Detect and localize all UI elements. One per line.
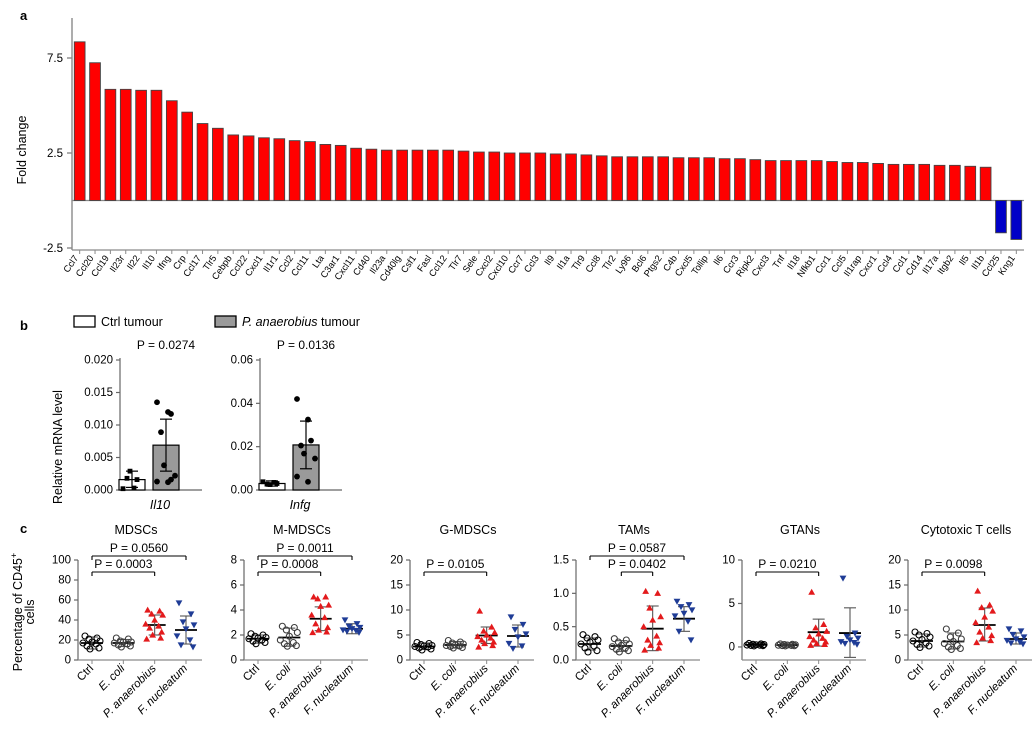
panel-c-group <box>640 588 664 664</box>
data-point <box>653 633 660 639</box>
data-point <box>806 633 813 639</box>
data-point <box>158 629 165 635</box>
data-point <box>1008 640 1015 646</box>
data-point <box>121 486 126 491</box>
svg-text:cells: cells <box>23 599 37 624</box>
panel-c-group <box>806 589 830 664</box>
panel-b-ytick: 0.02 <box>231 441 253 453</box>
panel-a-gene-label: Ccr1 <box>813 253 832 275</box>
data-point <box>580 632 586 638</box>
bar <box>658 157 669 201</box>
bar <box>704 158 715 201</box>
panel-c-pvalue: P = 0.0560 <box>110 541 168 555</box>
bar <box>520 153 531 201</box>
panel-b-gene-label: Infg <box>290 498 311 512</box>
panel-c-ytick: 5 <box>729 598 735 610</box>
data-point <box>988 632 995 638</box>
data-point <box>688 637 695 643</box>
bar <box>1011 201 1022 240</box>
bar <box>151 90 162 200</box>
panel-c-ytick: 0.0 <box>553 655 569 667</box>
data-point <box>301 451 307 457</box>
data-point <box>325 602 332 608</box>
data-point <box>125 476 130 481</box>
bar <box>934 165 945 200</box>
bar <box>504 153 515 201</box>
panel-b-ytick: 0.020 <box>84 355 113 367</box>
panel-c-ytick: 0 <box>729 642 735 654</box>
panel-c-chart: Percentage of CD45+cellsMDSCs02040608010… <box>0 516 1034 746</box>
bar <box>289 141 300 201</box>
significance-bracket: P = 0.0098 <box>922 557 985 576</box>
data-point <box>82 633 88 639</box>
data-point <box>685 619 692 625</box>
panel-c-group <box>142 607 166 664</box>
data-point <box>973 639 980 645</box>
panel-b-ytick: 0.005 <box>84 452 113 464</box>
data-point <box>654 590 661 596</box>
panel-a-gene-label: Ccr7 <box>506 253 525 275</box>
bar <box>166 101 177 201</box>
bar <box>950 165 961 200</box>
panel-c-group <box>941 626 964 664</box>
panel-c-ytick: 2 <box>231 630 237 642</box>
bar <box>980 167 991 200</box>
data-point <box>611 636 617 642</box>
data-point <box>191 622 198 628</box>
data-point <box>640 623 647 629</box>
data-point <box>174 633 181 639</box>
panel-c-pvalue: P = 0.0105 <box>426 557 484 571</box>
panel-c-pvalue: P = 0.0402 <box>608 557 666 571</box>
data-point <box>309 629 316 635</box>
bar <box>888 164 899 200</box>
panel-c-ytick: 80 <box>58 575 71 587</box>
panel-c-ytick: 0 <box>65 655 71 667</box>
significance-bracket: P = 0.0003 <box>92 557 155 576</box>
bar <box>673 158 684 201</box>
panel-c-ytick: 15 <box>390 580 403 592</box>
panel-a-gene-label: Ifng <box>155 253 172 271</box>
data-point <box>180 619 187 625</box>
data-point <box>594 648 600 654</box>
panel-c-group-label: Ctrl <box>407 663 428 684</box>
bar <box>827 162 838 201</box>
data-point <box>912 629 918 635</box>
data-point <box>144 607 151 613</box>
data-point <box>294 630 300 636</box>
data-point <box>812 624 819 630</box>
panel-c-plot-title: G-MDSCs <box>440 523 497 537</box>
data-point <box>158 429 164 435</box>
bar <box>381 150 392 200</box>
data-point <box>674 599 681 605</box>
bar <box>74 42 85 201</box>
data-point <box>986 602 993 608</box>
data-point <box>275 481 280 486</box>
panel-c-group <box>910 629 933 664</box>
bar <box>182 112 193 200</box>
panel-b-ytick: 0.04 <box>231 398 254 410</box>
panel-c-plot-title: GTANs <box>780 523 820 537</box>
panel-a-gene-label: Il10 <box>140 253 157 271</box>
panel-c-pvalue: P = 0.0008 <box>260 557 318 571</box>
bar <box>596 156 607 201</box>
bar <box>243 136 254 201</box>
panel-c-plot-title: MDSCs <box>114 523 157 537</box>
panel-c-group <box>308 593 332 664</box>
bar <box>335 145 346 200</box>
panel-c-group <box>277 623 300 664</box>
panel-a-gene-label: Cd14 <box>904 253 925 277</box>
data-point <box>190 644 197 650</box>
data-point <box>154 399 160 405</box>
panel-a-gene-label: Il1a <box>555 253 572 272</box>
panel-a-ylabel: Fold change <box>15 116 29 185</box>
bar <box>873 163 884 200</box>
data-point <box>294 396 300 402</box>
data-point <box>154 479 160 485</box>
bar <box>305 142 316 201</box>
bar <box>996 201 1007 233</box>
bar <box>811 161 822 201</box>
bar <box>259 138 270 201</box>
bar <box>397 150 408 200</box>
bar <box>535 153 546 201</box>
panel-a-chart: 7.52.5-2.5Fold changeCcl7Ccl20Ccl19Il23r… <box>0 0 1034 310</box>
data-point <box>176 600 183 606</box>
panel-c-ytick: 10 <box>722 555 735 567</box>
data-point <box>312 456 318 462</box>
panel-c-group <box>972 588 996 664</box>
data-point <box>657 613 664 619</box>
panel-c-ytick: 60 <box>58 595 71 607</box>
panel-a-gene-label: Il1r1 <box>261 253 280 274</box>
data-point <box>151 617 158 623</box>
panel-c-ytick: 20 <box>58 635 71 647</box>
panel-a-gene-label: Il22 <box>125 253 142 271</box>
panel-c-ytick: 0 <box>231 655 237 667</box>
panel-c-group-label: Ctrl <box>75 663 96 684</box>
panel-a-gene-label: Ccl8 <box>584 253 603 274</box>
panel-c-ytick: 100 <box>52 555 71 567</box>
panel-a-gene-label: Itgb2 <box>935 253 955 276</box>
bar <box>366 149 377 200</box>
data-point <box>142 621 149 627</box>
panel-c-pvalue: P = 0.0587 <box>608 541 666 555</box>
data-point <box>268 482 273 487</box>
bar <box>842 163 853 201</box>
data-point <box>656 639 663 645</box>
panel-c-ytick: 20 <box>888 555 901 567</box>
panel-c-ytick: 5 <box>397 630 403 642</box>
data-point <box>168 411 174 417</box>
panel-b-ytick: 0.06 <box>231 355 253 367</box>
panel-c-ytick: 10 <box>888 605 901 617</box>
panel-b-pvalue: P = 0.0274 <box>137 338 195 352</box>
panel-a-gene-label: Tnf <box>771 253 787 270</box>
panel-c-ytick: 10 <box>390 605 403 617</box>
bar <box>105 89 116 200</box>
bar <box>412 150 423 200</box>
panel-c-group-label: Ctrl <box>241 663 262 684</box>
panel-c-ytick: 40 <box>58 615 71 627</box>
panel-c-ytick: 0 <box>397 655 403 667</box>
data-point <box>515 634 522 640</box>
data-point <box>135 477 140 482</box>
bar <box>750 160 761 201</box>
panel-c-group-label: Ctrl <box>905 663 926 684</box>
bar <box>796 161 807 201</box>
data-point <box>974 588 981 594</box>
data-point <box>132 486 137 491</box>
panel-a-gene-label: Cd40 <box>351 253 372 277</box>
panel-a-ytick: 2.5 <box>47 148 63 160</box>
data-point <box>641 647 648 653</box>
significance-bracket: P = 0.0008 <box>258 557 321 576</box>
bar <box>719 159 730 201</box>
data-point <box>305 479 311 485</box>
data-point <box>972 619 979 625</box>
panel-c-plot-title: Cytotoxic T cells <box>921 523 1012 537</box>
panel-c-group <box>474 608 498 664</box>
data-point <box>823 628 830 634</box>
panel-c-group <box>80 633 103 664</box>
data-point <box>642 588 649 594</box>
bar <box>735 159 746 201</box>
panel-c-ytick: 4 <box>231 605 238 617</box>
panel-b-chart: Ctrl tumourP. anaerobius tumourRelative … <box>0 312 430 522</box>
data-point <box>976 629 983 635</box>
panel-a-gene-label: Ccl4 <box>875 253 894 274</box>
panel-c-group <box>672 599 696 664</box>
data-point <box>649 617 656 623</box>
panel-c-group <box>578 632 601 664</box>
bar <box>627 157 638 201</box>
bar <box>90 63 101 201</box>
data-point <box>840 576 847 582</box>
panel-b-pvalue: P = 0.0136 <box>277 338 335 352</box>
bar <box>120 89 131 200</box>
bar <box>581 155 592 201</box>
data-point <box>321 614 328 620</box>
data-point <box>161 462 167 468</box>
bar <box>427 150 438 200</box>
data-point <box>308 612 315 618</box>
bar <box>919 164 930 200</box>
data-point <box>820 621 827 627</box>
data-point <box>342 617 349 623</box>
data-point <box>681 611 688 617</box>
panel-a-gene-label: Ly96 <box>614 253 634 275</box>
data-point <box>644 637 651 643</box>
data-point <box>655 645 662 651</box>
bar <box>642 157 653 201</box>
data-point <box>491 629 498 635</box>
significance-bracket: P = 0.0210 <box>756 557 819 576</box>
panel-b-ytick: 0.015 <box>84 387 113 399</box>
data-point <box>298 443 304 449</box>
panel-b-bar-group <box>259 479 285 490</box>
data-point <box>317 603 324 609</box>
bar <box>688 158 699 201</box>
panel-b-ylabel: Relative mRNA level <box>51 390 65 504</box>
panel-c-group-label: Ctrl <box>739 663 760 684</box>
panel-c-group <box>340 617 364 664</box>
data-point <box>1006 626 1013 632</box>
data-point <box>324 624 331 630</box>
panel-c-ytick: 5 <box>895 630 901 642</box>
panel-c-group <box>1004 626 1028 664</box>
panel-c-group <box>506 614 530 664</box>
panel-c-ytick: 8 <box>231 555 237 567</box>
panel-c-group <box>838 576 862 664</box>
data-point <box>510 646 517 652</box>
panel-c-ytick: 1.5 <box>553 555 569 567</box>
bar <box>351 148 362 200</box>
data-point <box>476 608 483 614</box>
panel-a-ytick: -2.5 <box>43 243 63 255</box>
panel-b-gene-label: Il10 <box>150 498 170 512</box>
data-point <box>981 614 988 620</box>
panel-c-pvalue: P = 0.0210 <box>758 557 816 571</box>
data-point <box>294 474 300 480</box>
panel-a-gene-label: Ccl11 <box>289 253 310 278</box>
bar <box>320 144 331 200</box>
panel-a-gene-label: Csf1 <box>399 253 418 274</box>
data-point <box>519 643 526 649</box>
data-point <box>808 589 815 595</box>
panel-c-ytick: 0 <box>895 655 901 667</box>
panel-b-bar-group <box>119 469 145 491</box>
panel-a-gene-label: Il23r <box>108 253 127 274</box>
panel-a-gene-label: Kng1 <box>996 253 1017 277</box>
panel-c-plot-title: TAMs <box>618 523 650 537</box>
data-point <box>128 469 133 474</box>
panel-c-ytick: 0.5 <box>553 621 569 633</box>
bar <box>612 157 623 201</box>
data-point <box>96 645 102 651</box>
bar <box>212 128 223 200</box>
data-point <box>187 637 194 643</box>
panel-c-pvalue: P = 0.0011 <box>276 541 334 555</box>
panel-a-ytick: 7.5 <box>47 53 63 65</box>
bar <box>965 166 976 200</box>
panel-b-legend: Ctrl tumourP. anaerobius tumour <box>74 315 360 329</box>
legend-pa-label: P. anaerobius tumour <box>242 315 360 329</box>
bar <box>903 164 914 200</box>
bar <box>765 161 776 201</box>
panel-c-pvalue: P = 0.0098 <box>924 557 982 571</box>
data-point <box>508 614 515 620</box>
data-point <box>143 636 150 642</box>
panel-c-plot-title: M-MDSCs <box>273 523 331 537</box>
bar <box>566 154 577 201</box>
significance-bracket: P = 0.0105 <box>424 557 487 576</box>
panel-b-bar-group <box>293 396 319 490</box>
bar <box>136 90 147 200</box>
panel-c-ylabel: Percentage of CD45+cells <box>9 553 37 672</box>
bar <box>489 152 500 200</box>
significance-bracket: P = 0.0402 <box>608 557 666 576</box>
data-point <box>689 607 696 613</box>
data-point <box>807 642 814 648</box>
panel-c-group-label: Ctrl <box>573 663 594 684</box>
data-point <box>512 627 519 633</box>
legend-ctrl-label: Ctrl tumour <box>101 315 163 329</box>
panel-c-group <box>174 600 198 664</box>
panel-c-group <box>246 631 269 664</box>
panel-b-ytick: 0.00 <box>231 485 253 497</box>
panel-b-bar-group <box>153 399 179 490</box>
data-point <box>305 417 311 423</box>
data-point <box>312 620 319 626</box>
panel-b-ytick: 0.000 <box>84 485 113 497</box>
bar <box>781 161 792 201</box>
bar <box>458 151 469 200</box>
bar <box>474 152 485 200</box>
panel-c-ytick: 1.0 <box>553 588 569 600</box>
data-point <box>842 641 849 647</box>
panel-a-gene-label: Tollip <box>690 253 710 276</box>
data-point <box>475 644 482 650</box>
bar <box>443 150 454 200</box>
bar <box>857 163 868 201</box>
bar <box>550 154 561 201</box>
data-point <box>978 604 985 610</box>
panel-c-pvalue: P = 0.0003 <box>94 557 152 571</box>
data-point <box>623 637 629 643</box>
data-point <box>168 477 174 483</box>
data-point <box>322 593 329 599</box>
panel-a-gene-label: Ccl3 <box>522 253 541 274</box>
panel-c-ytick: 6 <box>231 580 237 592</box>
data-point <box>943 626 949 632</box>
data-point <box>178 642 185 648</box>
bar <box>228 135 239 201</box>
panel-b-ytick: 0.010 <box>84 420 113 432</box>
data-point <box>308 438 314 444</box>
panel-c-ytick: 20 <box>390 555 403 567</box>
bar <box>197 124 208 201</box>
panel-c-ytick: 15 <box>888 580 901 592</box>
bar <box>274 139 285 201</box>
